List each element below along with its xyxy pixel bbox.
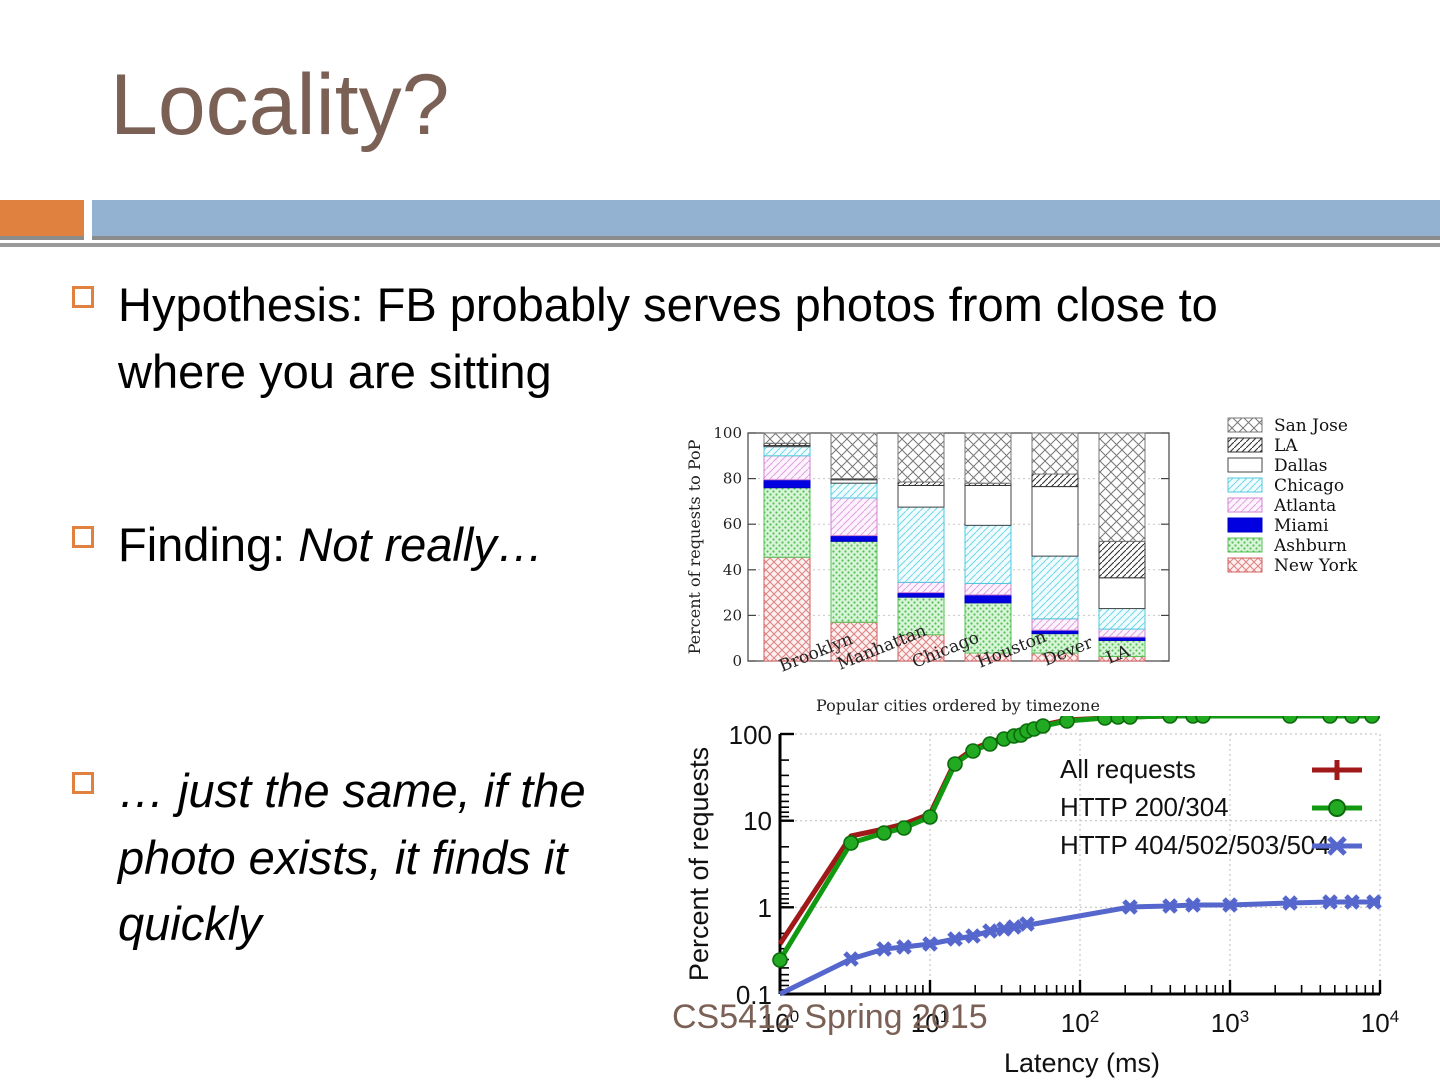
header-accent-blue-bar	[92, 200, 1440, 236]
chart1-legend-item-new-york: New York	[1228, 556, 1358, 576]
svg-text:20: 20	[723, 606, 742, 624]
bullet-1-lead: Hypothesis: FB probably serves photos fr…	[118, 278, 1218, 398]
header-baseline-rule	[0, 243, 1440, 247]
bar-la	[1099, 433, 1145, 661]
bullet-square-icon	[72, 526, 94, 548]
svg-text:San Jose: San Jose	[1274, 416, 1348, 436]
chart1-legend-item-chicago: Chicago	[1228, 476, 1344, 496]
bullet-2-italic: Not really…	[298, 518, 544, 571]
svg-text:Chicago: Chicago	[1274, 476, 1344, 496]
svg-text:40: 40	[723, 561, 742, 579]
bar-brooklyn	[764, 433, 810, 661]
svg-text:Ashburn: Ashburn	[1273, 536, 1347, 556]
header-accent-orange-bar	[0, 200, 84, 236]
header-accent-blue-shadow	[92, 236, 1440, 240]
svg-text:100: 100	[729, 720, 772, 750]
bullet-square-icon	[72, 286, 94, 308]
series-http-errors-markers	[845, 896, 1380, 965]
chart1-legend-item-san-jose: San Jose	[1228, 416, 1348, 436]
bullet-3-italic: … just the same, if the photo exists, it…	[118, 764, 586, 950]
bullet-2-lead: Finding:	[118, 518, 298, 571]
bullet-text-conclusion: … just the same, if the photo exists, it…	[118, 758, 692, 958]
chart2-legend-marker-http-200-304	[1312, 800, 1362, 816]
svg-text:100: 100	[713, 424, 742, 442]
chart2-y-axis-title: Percent of requests	[684, 747, 714, 981]
chart1-legend-item-atlanta: Atlanta	[1228, 496, 1336, 516]
bar-manhattan	[831, 433, 877, 661]
header-accent-orange-shadow	[0, 236, 84, 240]
chart1-y-tick-labels: 100 80 60 40 20 0	[713, 424, 742, 670]
slide-footer: CS5412 Spring 2015	[672, 998, 988, 1037]
svg-text:LA: LA	[1274, 436, 1298, 456]
chart1-y-axis-title: Percent of requests to PoP	[685, 439, 704, 654]
bullet-item-conclusion: … just the same, if the photo exists, it…	[72, 758, 692, 958]
svg-text:102: 102	[1061, 1007, 1099, 1038]
chart1-x-tick-labels: Brooklyn Manhattan Chicago Houston Dever…	[776, 621, 1133, 677]
chart2-legend-label-all-requests: All requests	[1060, 754, 1196, 784]
bullet-text-finding: Finding: Not really…	[118, 512, 544, 579]
page-title: Locality?	[110, 62, 449, 148]
svg-text:Dallas: Dallas	[1274, 456, 1328, 476]
svg-text:60: 60	[723, 515, 742, 533]
svg-text:104: 104	[1361, 1007, 1399, 1038]
stacked-bar-chart-requests-to-pop: 100 80 60 40 20 0	[682, 406, 1440, 718]
svg-text:0: 0	[732, 652, 742, 670]
chart1-legend: San Jose LA Dallas Chicago Atlanta Miami	[1228, 416, 1358, 576]
svg-text:10: 10	[743, 806, 772, 836]
chart1-legend-item-ashburn: Ashburn	[1228, 536, 1347, 556]
chart1-legend-item-miami: Miami	[1228, 516, 1329, 536]
chart1-plot-area: 100 80 60 40 20 0	[685, 424, 1169, 715]
svg-text:Miami: Miami	[1274, 516, 1329, 536]
svg-text:New York: New York	[1274, 556, 1358, 576]
chart1-legend-item-dallas: Dallas	[1228, 456, 1328, 476]
chart2-x-axis-title: Latency (ms)	[1004, 1048, 1160, 1078]
bullet-square-icon	[72, 772, 94, 794]
chart2-legend-marker-all-requests	[1312, 760, 1362, 780]
chart2-legend: All requests HTTP 200/304 HTTP 404/502/5…	[1060, 754, 1362, 860]
header-rule	[0, 200, 1440, 240]
bullet-item-hypothesis: Hypothesis: FB probably serves photos fr…	[72, 272, 1302, 405]
svg-text:80: 80	[723, 470, 742, 488]
chart2-legend-label-http-errors: HTTP 404/502/503/504	[1060, 830, 1330, 860]
svg-text:103: 103	[1211, 1007, 1249, 1038]
stacked-bar-chart-svg: 100 80 60 40 20 0	[682, 406, 1440, 718]
bullet-item-finding: Finding: Not really…	[72, 512, 772, 579]
chart1-x-axis-title: Popular cities ordered by timezone	[816, 696, 1100, 715]
svg-text:1: 1	[758, 893, 772, 923]
svg-text:Atlanta: Atlanta	[1273, 496, 1336, 516]
bullet-text-hypothesis: Hypothesis: FB probably serves photos fr…	[118, 272, 1302, 405]
bar-houston	[965, 433, 1011, 661]
bar-dever	[1032, 433, 1078, 661]
chart2-legend-label-http-200-304: HTTP 200/304	[1060, 792, 1229, 822]
chart1-legend-item-la: LA	[1228, 436, 1298, 456]
chart2-y-tick-labels: 100 10 1 0.1	[729, 720, 772, 1010]
